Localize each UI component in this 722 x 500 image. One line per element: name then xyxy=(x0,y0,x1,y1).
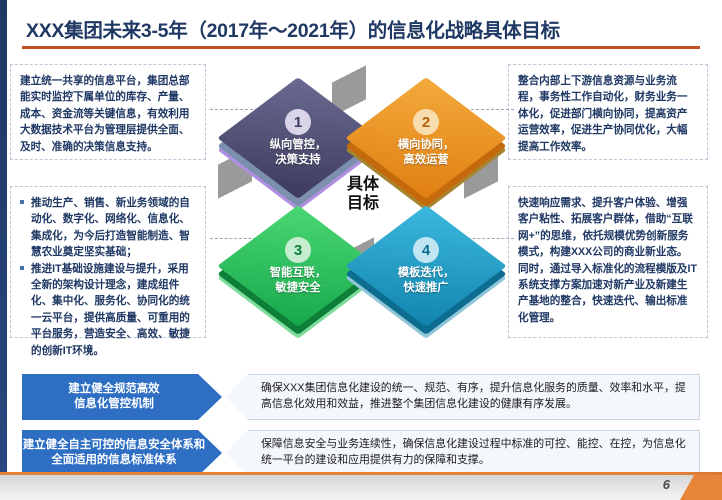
note-text: 建立统一共享的信息平台，集团总部能实时监控下属单位的库存、产量、成本、资金流等关… xyxy=(20,73,196,155)
note-box-left-bottom: 推动生产、销售、新业务领域的自动化、数字化、网络化、信息化、集成化，为今后打造智… xyxy=(10,186,206,338)
row-description: 保障信息安全与业务连续性，确保信息化建设过程中标准的可控、能控、在控，为信息化统… xyxy=(226,430,700,476)
objective-row-1: 建立健全规范高效 信息化管控机制 确保XXX集团信息化建设的统一、规范、有序，提… xyxy=(22,374,700,420)
bullet-text: 推进IT基础设施建设与提升，采用全新的架构设计理念，建成组件化、集中化、服务化、… xyxy=(31,263,190,357)
slide-root: XXX集团未来3-5年（2017年～2021年）的信息化战略具体目标 建立统一共… xyxy=(0,0,722,500)
page-number: 6 xyxy=(663,477,670,492)
bullet-item: 推进IT基础设施建设与提升，采用全新的架构设计理念，建成组件化、集中化、服务化、… xyxy=(20,261,196,359)
objective-card-4[interactable]: 4 模板迭代， 快速推广 xyxy=(362,202,490,330)
row-description-text: 保障信息安全与业务连续性，确保信息化建设过程中标准的可控、能控、在控，为信息化统… xyxy=(261,437,689,469)
bullet-item: 推动生产、销售、新业务领域的自动化、数字化、网络化、信息化、集成化，为今后打造智… xyxy=(20,195,196,261)
note-text: 整合内部上下游信息资源与业务流程，事务性工作自动化，财务业务一体化，促进部门横向… xyxy=(518,73,698,155)
note-box-right-top: 整合内部上下游信息资源与业务流程，事务性工作自动化，财务业务一体化，促进部门横向… xyxy=(508,64,708,160)
note-box-right-bottom: 快速响应需求、提升客户体验、增强客户粘性、拓展客户群体，借助“互联网+”的思维，… xyxy=(508,186,708,338)
note-box-left-top: 建立统一共享的信息平台，集团总部能实时监控下属单位的库存、产量、成本、资金流等关… xyxy=(10,64,206,160)
note-text: 快速响应需求、提升客户体验、增强客户粘性、拓展客户群体，借助“互联网+”的思维，… xyxy=(518,195,698,326)
bullet-text: 推动生产、销售、新业务领域的自动化、数字化、网络化、信息化、集成化，为今后打造智… xyxy=(31,197,190,258)
left-accent-bar xyxy=(0,0,7,472)
objective-row-2: 建立健全自主可控的信息安全体系和 全面适用的信息标准体系 保障信息安全与业务连续… xyxy=(22,430,700,476)
row-description: 确保XXX集团信息化建设的统一、规范、有序，提升信息化服务的质量、效率和水平，提… xyxy=(226,374,700,420)
title-underline xyxy=(22,46,700,49)
bullet-square-icon xyxy=(20,266,24,270)
card-top-face xyxy=(345,205,506,327)
objective-card-3[interactable]: 3 智能互联， 敏捷安全 xyxy=(234,202,362,330)
row-tag-label: 建立健全自主可控的信息安全体系和 全面适用的信息标准体系 xyxy=(23,438,205,469)
row-tag[interactable]: 建立健全规范高效 信息化管控机制 xyxy=(22,374,222,420)
diagram-centre-label: 具体 目标 xyxy=(320,176,406,213)
row-tag-label: 建立健全规范高效 信息化管控机制 xyxy=(68,382,159,413)
row-description-text: 确保XXX集团信息化建设的统一、规范、有序，提升信息化服务的质量、效率和水平，提… xyxy=(261,381,689,413)
page-title: XXX集团未来3-5年（2017年～2021年）的信息化战略具体目标 xyxy=(26,14,560,43)
objectives-diagram: 1 纵向管控， 决策支持 2 横向协同， 高效运营 3 智能互联， 敏捷安全 xyxy=(212,60,512,360)
bullet-square-icon xyxy=(20,200,24,204)
footer-bar xyxy=(0,475,722,500)
row-tag[interactable]: 建立健全自主可控的信息安全体系和 全面适用的信息标准体系 xyxy=(22,430,222,476)
